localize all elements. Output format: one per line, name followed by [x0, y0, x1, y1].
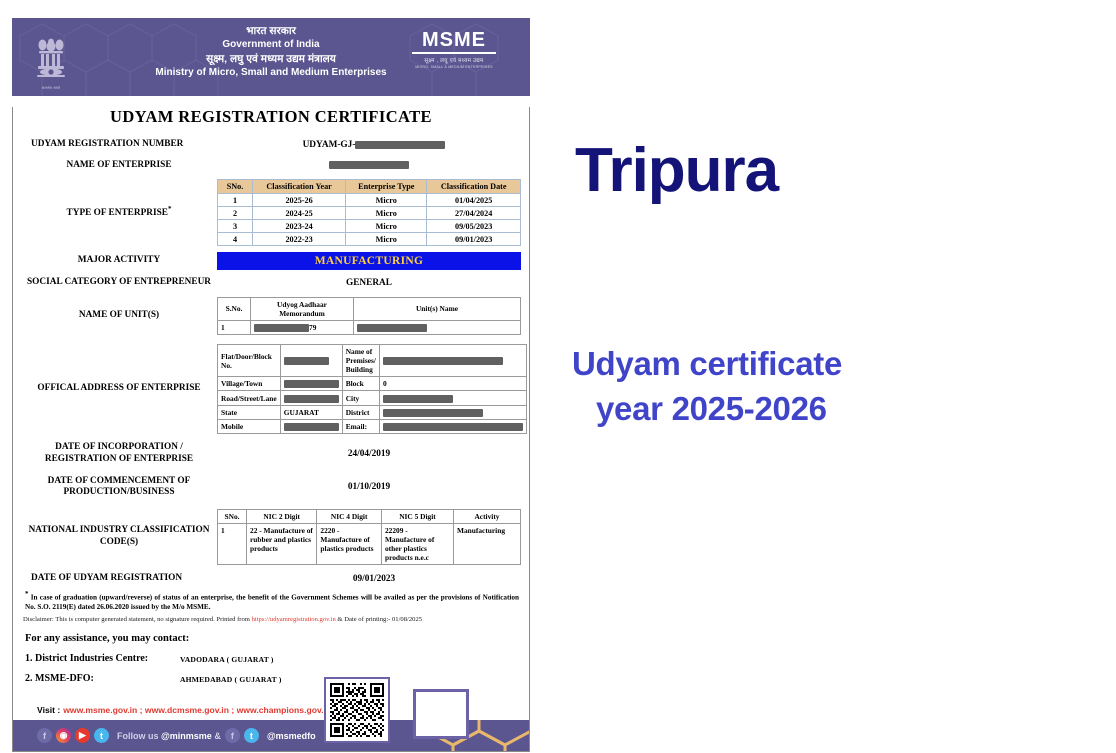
city-label: City — [342, 391, 379, 405]
msme-logo-english: MICRO, SMALL & MEDIUM ENTERPRISES — [406, 65, 502, 69]
cell-year: 2025-26 — [253, 194, 346, 207]
type-of-enterprise-label: TYPE OF ENTERPRISE* — [21, 205, 217, 220]
district-value — [379, 405, 526, 419]
table-header-row: SNo. NIC 2 Digit NIC 4 Digit NIC 5 Digit… — [218, 509, 521, 523]
village-label: Village/Town — [218, 377, 281, 391]
row-udyam-number: UDYAM REGISTRATION NUMBER UDYAM-GJ- — [21, 139, 521, 151]
col-classification-date: Classification Date — [427, 180, 521, 194]
contact-label: 1. District Industries Centre: — [25, 653, 180, 664]
disclaimer-post: & Date of printing:- 01/08/2025 — [336, 616, 422, 623]
table-header-row: S.No. Udyog Aadhaar Memorandum Unit(s) N… — [218, 297, 521, 320]
premises-value — [379, 345, 526, 377]
row-social-category: SOCIAL CATEGORY OF ENTREPRENEUR GENERAL — [21, 277, 521, 289]
redaction-bar — [284, 423, 339, 431]
emblem-caption: सत्यमेव जयते — [42, 85, 60, 90]
row-nic-codes: NATIONAL INDUSTRY CLASSIFICATION CODE(S)… — [21, 509, 521, 565]
redaction-bar — [284, 380, 339, 388]
row-date-udyam-registration: DATE OF UDYAM REGISTRATION 09/01/2023 — [21, 573, 521, 585]
cell-sno: 2 — [218, 207, 253, 220]
contact-row: 1. District Industries Centre: VADODARA … — [25, 653, 529, 664]
cell-type: Micro — [346, 194, 427, 207]
cell-unit-name — [354, 320, 521, 334]
major-activity-label: MAJOR ACTIVITY — [21, 255, 217, 267]
udyam-number-label: UDYAM REGISTRATION NUMBER — [21, 139, 227, 151]
table-row: 1 22 - Manufacture of rubber and plastic… — [218, 523, 521, 564]
road-label: Road/Street/Lane — [218, 391, 281, 405]
subtitle-block: Udyam certificate year 2025-2026 — [572, 342, 842, 431]
enterprise-type-table-wrap: SNo. Classification Year Enterprise Type… — [217, 179, 521, 246]
follow-us-text: Follow us @minmsme & — [117, 731, 221, 741]
youtube-icon[interactable]: ▶ — [75, 728, 90, 743]
subtitle-line-2: year 2025-2026 — [572, 387, 842, 432]
date-incorporation-value: 24/04/2019 — [217, 449, 521, 459]
table-row: 2 2024-25 Micro 27/04/2024 — [218, 207, 521, 220]
cell-sno: 1 — [218, 320, 251, 334]
cell-nic2: 22 - Manufacture of rubber and plastics … — [247, 523, 317, 564]
cell-activity: Manufacturing — [454, 523, 521, 564]
row-date-incorporation: DATE OF INCORPORATION / REGISTRATION OF … — [21, 442, 521, 465]
handle-msmedfo[interactable]: @msmedfo — [267, 731, 316, 741]
ampersand: & — [214, 731, 221, 741]
udyam-certificate: सत्यमेव जयते भारत सरकार Government of In… — [12, 18, 530, 743]
col-nic5: NIC 5 Digit — [381, 509, 453, 523]
certificate-header: सत्यमेव जयते भारत सरकार Government of In… — [12, 18, 530, 96]
email-label: Email: — [342, 420, 379, 434]
udyam-number-value: UDYAM-GJ- — [227, 140, 521, 150]
qr-code-image — [328, 681, 386, 739]
enterprise-name-label: NAME OF ENTERPRISE — [21, 160, 217, 172]
address-table-wrap: Flat/Door/Block No. Name of Premises/ Bu… — [217, 344, 527, 434]
contact-row: 2. MSME-DFO: AHMEDABAD ( GUJARAT ) — [25, 673, 529, 684]
redaction-bar — [383, 395, 453, 403]
type-of-enterprise-label-text: TYPE OF ENTERPRISE — [67, 208, 168, 218]
col-unit-name: Unit(s) Name — [354, 297, 521, 320]
enterprise-name-value — [217, 160, 521, 170]
contact-value: AHMEDABAD ( GUJARAT ) — [180, 673, 282, 684]
right-panel: Tripura Udyam certificate year 2025-2026 — [555, 0, 1116, 753]
instagram-icon[interactable]: ◉ — [56, 728, 71, 743]
village-value — [280, 377, 342, 391]
handle-msmedfo-wrap: @msmedfo — [267, 731, 316, 741]
msme-logo: MSME सूक्ष्म , लघु एवं मध्यम उद्यम MICRO… — [406, 30, 502, 69]
cell-sno: 1 — [218, 194, 253, 207]
subtitle-line-1: Udyam certificate — [572, 345, 842, 382]
date-commencement-value: 01/10/2019 — [217, 482, 521, 492]
cell-uam: 79 — [251, 320, 354, 334]
col-sno: SNo. — [218, 180, 253, 194]
disclaimer: Disclaimer: This is computer generated s… — [23, 616, 519, 625]
twitter-icon[interactable]: t — [244, 728, 259, 743]
redaction-bar — [383, 423, 523, 431]
row-enterprise-name: NAME OF ENTERPRISE — [21, 160, 521, 172]
block-value: 0 — [379, 377, 526, 391]
col-sno: SNo. — [218, 509, 247, 523]
row-type-of-enterprise: TYPE OF ENTERPRISE* SNo. Classification … — [21, 179, 521, 246]
redaction-bar — [383, 357, 503, 365]
road-value — [280, 391, 342, 405]
nic-table-wrap: SNo. NIC 2 Digit NIC 4 Digit NIC 5 Digit… — [217, 509, 521, 565]
disclaimer-link[interactable]: https://udyamregistration.gov.in — [252, 616, 336, 623]
table-row: State GUJARAT District — [218, 405, 527, 419]
redaction-bar — [383, 409, 483, 417]
cell-year: 2024-25 — [253, 207, 346, 220]
col-nic2: NIC 2 Digit — [247, 509, 317, 523]
state-title: Tripura — [575, 140, 778, 202]
city-value — [379, 391, 526, 405]
handle-minmsme[interactable]: @minmsme — [161, 731, 212, 741]
asterisk-marker: * — [25, 590, 29, 598]
cell-date: 01/04/2025 — [427, 194, 521, 207]
col-enterprise-type: Enterprise Type — [346, 180, 427, 194]
facebook-icon[interactable]: f — [225, 728, 240, 743]
flat-value — [280, 345, 342, 377]
cell-date: 09/05/2023 — [427, 220, 521, 233]
cell-sno: 3 — [218, 220, 253, 233]
date-commencement-label: DATE OF COMMENCEMENT OF PRODUCTION/BUSIN… — [21, 476, 217, 499]
row-name-of-units: NAME OF UNIT(S) S.No. Udyog Aadhaar Memo… — [21, 297, 521, 335]
graduation-footnote: * In case of graduation (upward/reverse)… — [25, 590, 519, 613]
msme-logo-rule — [412, 52, 496, 54]
msme-logo-hindi: सूक्ष्म , लघु एवं मध्यम उद्यम — [406, 56, 502, 64]
udyam-number-prefix: UDYAM-GJ- — [303, 140, 356, 150]
redaction-bar — [284, 395, 339, 403]
redaction-bar — [357, 324, 427, 332]
asterisk-marker: * — [168, 205, 172, 213]
row-major-activity: MAJOR ACTIVITY MANUFACTURING — [21, 252, 521, 270]
cell-year: 2023-24 — [253, 220, 346, 233]
col-sno: S.No. — [218, 297, 251, 320]
certificate-body: UDYAM REGISTRATION CERTIFICATE UDYAM REG… — [12, 107, 530, 752]
cell-uam-suffix: 79 — [309, 323, 316, 332]
redaction-bar — [284, 357, 329, 365]
address-table: Flat/Door/Block No. Name of Premises/ Bu… — [217, 344, 527, 434]
table-row: 1 79 — [218, 320, 521, 334]
cell-year: 2022-23 — [253, 233, 346, 246]
table-row: Road/Street/Lane City — [218, 391, 527, 405]
contact-label: 2. MSME-DFO: — [25, 673, 180, 684]
row-official-address: OFFICAL ADDRESS OF ENTERPRISE Flat/Door/… — [21, 344, 521, 434]
mobile-value — [280, 420, 342, 434]
cell-nic5: 22209 - Manufacture of other plastics pr… — [381, 523, 453, 564]
cell-type: Micro — [346, 207, 427, 220]
msme-logo-mark: MSME — [406, 30, 502, 50]
table-row: 3 2023-24 Micro 09/05/2023 — [218, 220, 521, 233]
assistance-heading: For any assistance, you may contact: — [25, 633, 529, 644]
col-nic4: NIC 4 Digit — [317, 509, 382, 523]
cell-date: 27/04/2024 — [427, 207, 521, 220]
social-category-value: GENERAL — [217, 278, 521, 288]
visit-label: Visit : — [37, 705, 60, 715]
col-classification-year: Classification Year — [253, 180, 346, 194]
table-row: Flat/Door/Block No. Name of Premises/ Bu… — [218, 345, 527, 377]
block-label: Block — [342, 377, 379, 391]
cell-sno: 1 — [218, 523, 247, 564]
table-row: 4 2022-23 Micro 09/01/2023 — [218, 233, 521, 246]
cell-sno: 4 — [218, 233, 253, 246]
redaction-bar — [254, 324, 309, 332]
enterprise-type-table: SNo. Classification Year Enterprise Type… — [217, 179, 521, 246]
date-incorporation-label: DATE OF INCORPORATION / REGISTRATION OF … — [21, 442, 217, 465]
major-activity-wrap: MANUFACTURING — [217, 252, 521, 270]
signature-box — [413, 689, 469, 739]
official-address-label: OFFICAL ADDRESS OF ENTERPRISE — [21, 383, 217, 395]
facebook-icon[interactable]: f — [37, 728, 52, 743]
visit-links[interactable]: www.msme.gov.in ; www.dcmsme.gov.in ; ww… — [63, 705, 331, 715]
cell-type: Micro — [346, 233, 427, 246]
contact-value: VADODARA ( GUJARAT ) — [180, 653, 274, 664]
name-of-units-label: NAME OF UNIT(S) — [21, 310, 217, 322]
flat-label: Flat/Door/Block No. — [218, 345, 281, 377]
state-label: State — [218, 405, 281, 419]
units-table-wrap: S.No. Udyog Aadhaar Memorandum Unit(s) N… — [217, 297, 521, 335]
nic-table: SNo. NIC 2 Digit NIC 4 Digit NIC 5 Digit… — [217, 509, 521, 565]
nic-label: NATIONAL INDUSTRY CLASSIFICATION CODE(S) — [21, 525, 217, 548]
redaction-bar — [355, 141, 445, 149]
twitter-icon[interactable]: t — [94, 728, 109, 743]
table-row: Village/Town Block 0 — [218, 377, 527, 391]
email-value — [379, 420, 526, 434]
cell-date: 09/01/2023 — [427, 233, 521, 246]
date-udyam-reg-label: DATE OF UDYAM REGISTRATION — [21, 573, 227, 585]
premises-label: Name of Premises/ Building — [342, 345, 379, 377]
district-label: District — [342, 405, 379, 419]
table-row: 1 2025-26 Micro 01/04/2025 — [218, 194, 521, 207]
col-uam: Udyog Aadhaar Memorandum — [251, 297, 354, 320]
redaction-bar — [329, 161, 409, 169]
row-date-commencement: DATE OF COMMENCEMENT OF PRODUCTION/BUSIN… — [21, 476, 521, 499]
col-activity: Activity — [454, 509, 521, 523]
social-category-label: SOCIAL CATEGORY OF ENTREPRENEUR — [21, 277, 217, 289]
graduation-footnote-text: In case of graduation (upward/reverse) o… — [25, 594, 519, 612]
mobile-label: Mobile — [218, 420, 281, 434]
certificate-title: UDYAM REGISTRATION CERTIFICATE — [13, 107, 529, 127]
date-udyam-reg-value: 09/01/2023 — [227, 574, 521, 584]
cell-type: Micro — [346, 220, 427, 233]
disclaimer-pre: Disclaimer: This is computer generated s… — [23, 616, 252, 623]
units-table: S.No. Udyog Aadhaar Memorandum Unit(s) N… — [217, 297, 521, 335]
cell-nic4: 2220 - Manufacture of plastics products — [317, 523, 382, 564]
table-row: Mobile Email: — [218, 420, 527, 434]
table-header-row: SNo. Classification Year Enterprise Type… — [218, 180, 521, 194]
qr-code[interactable] — [324, 677, 390, 743]
major-activity-value: MANUFACTURING — [217, 252, 521, 270]
follow-pre: Follow us — [117, 731, 159, 741]
state-value: GUJARAT — [280, 405, 342, 419]
